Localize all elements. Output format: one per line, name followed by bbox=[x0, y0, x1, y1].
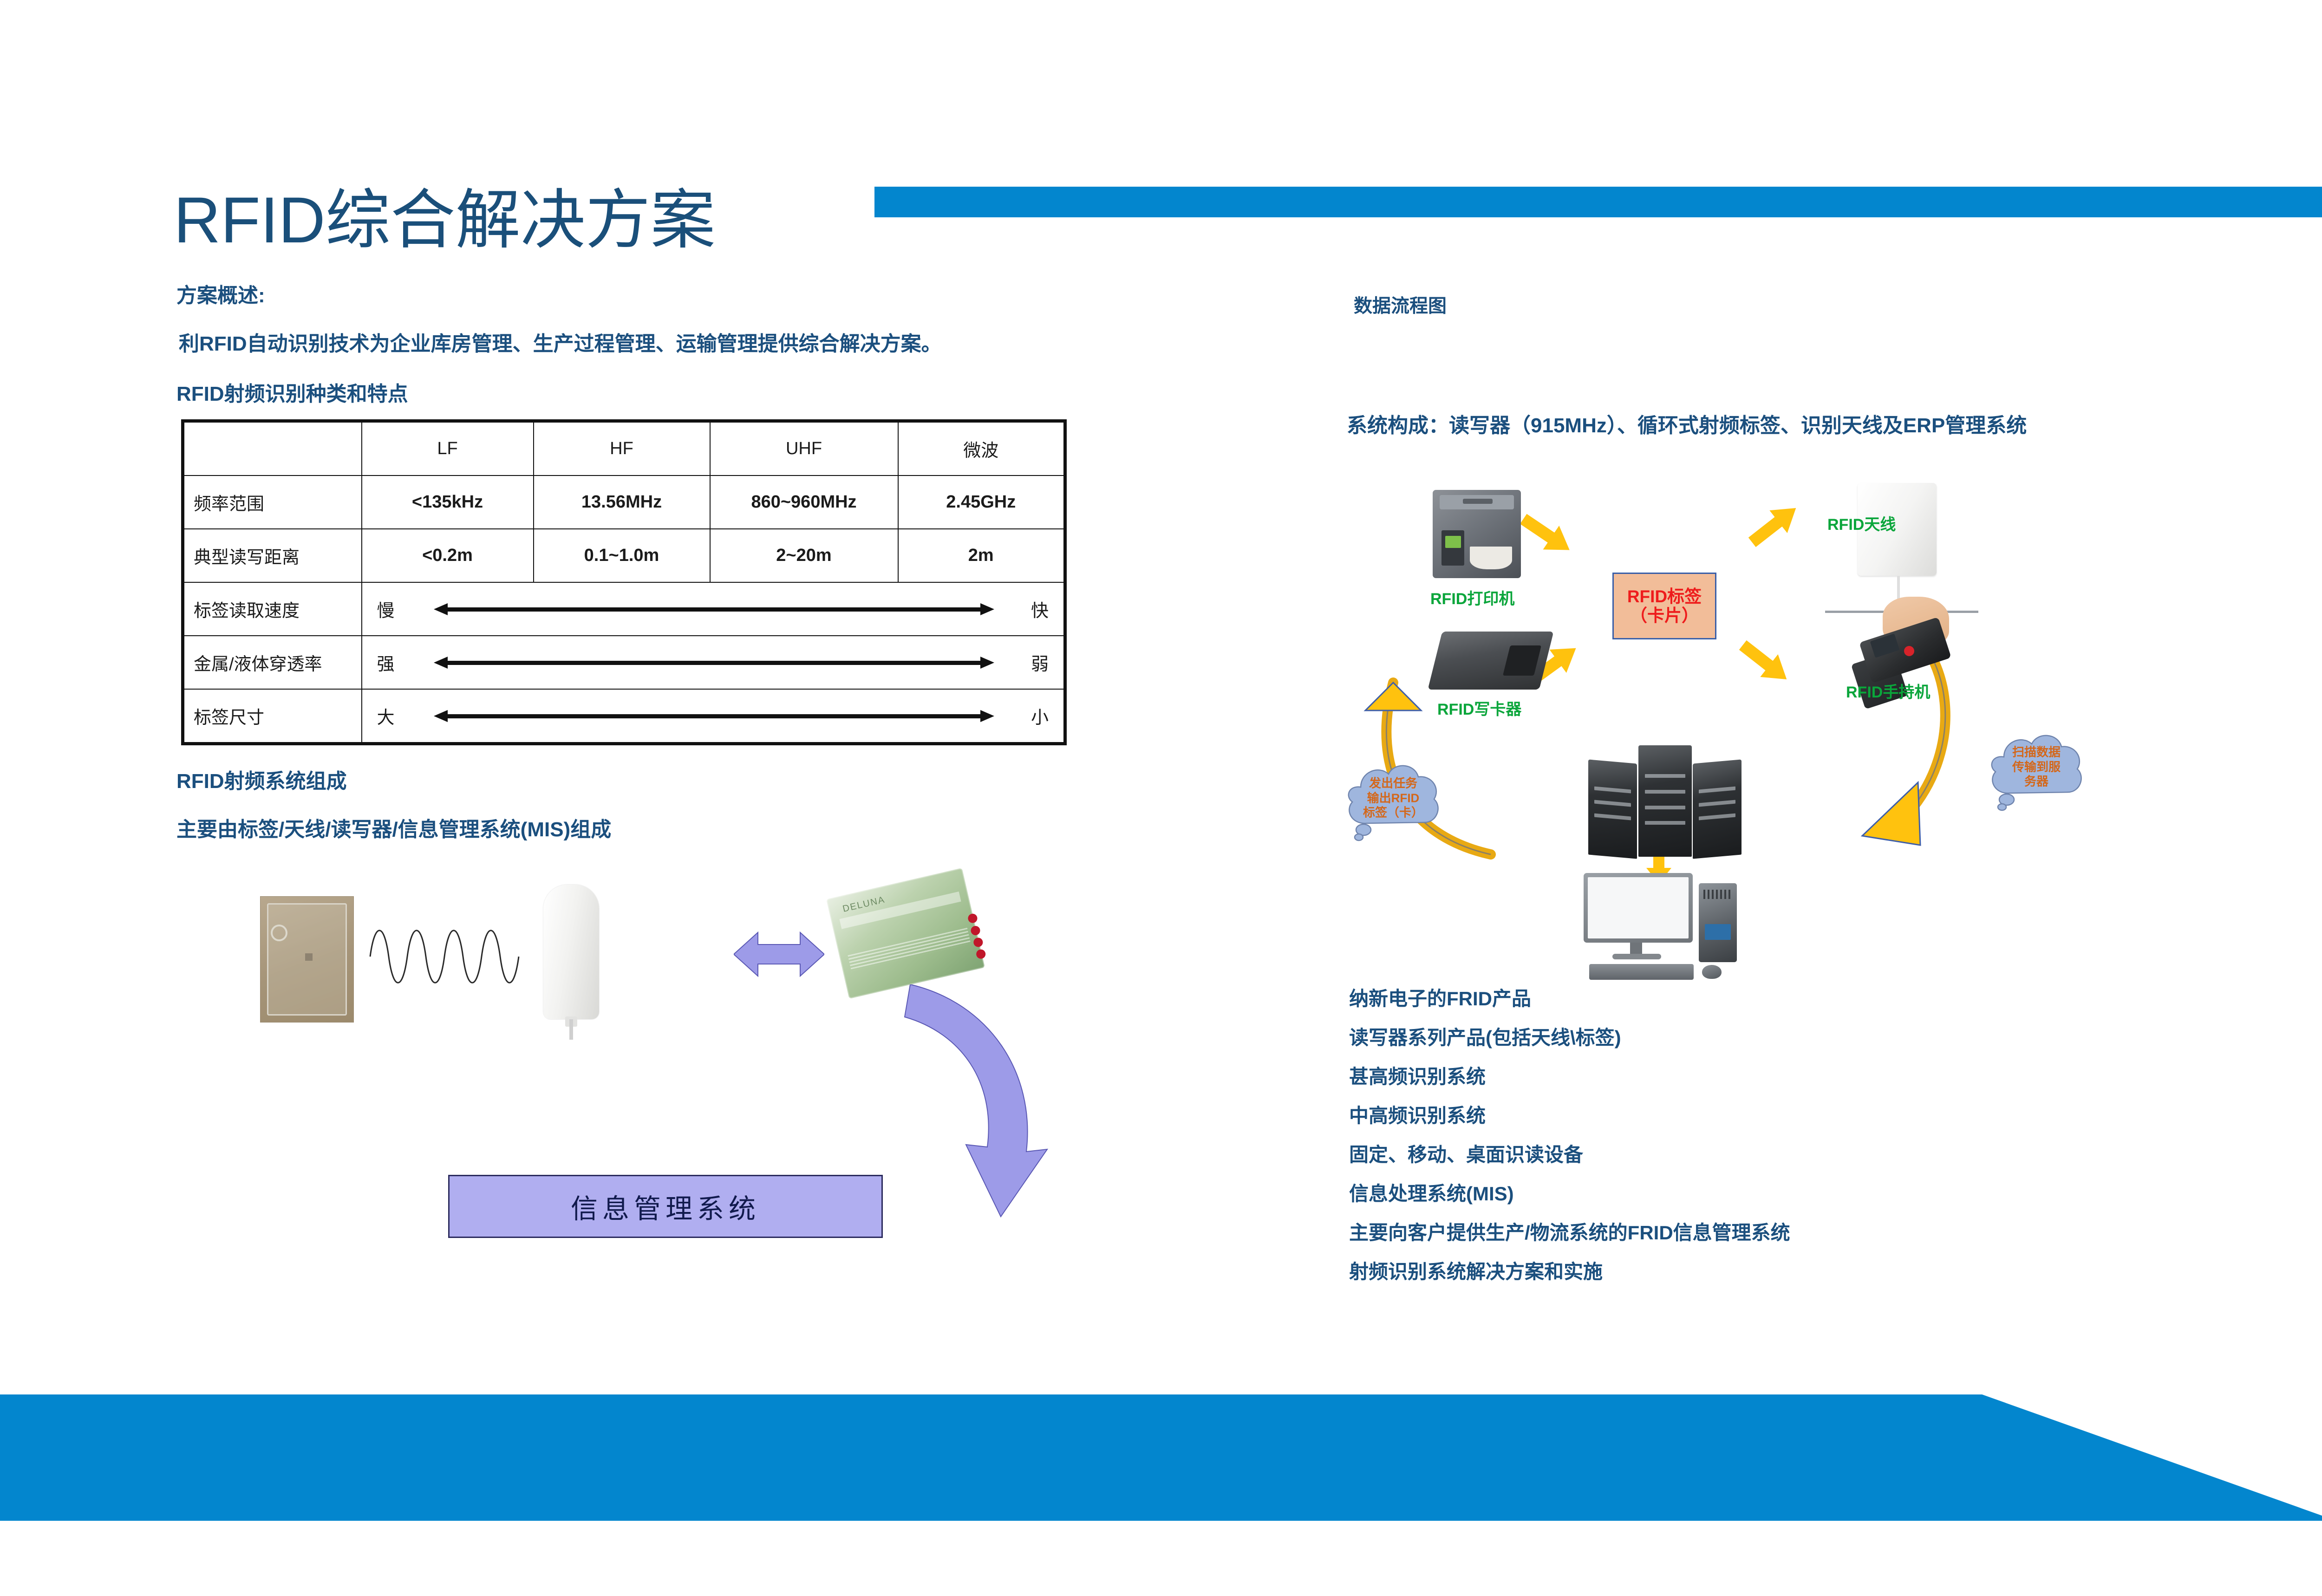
row-label: 金属/液体穿透率 bbox=[183, 636, 362, 689]
rfid-card-writer-image bbox=[1435, 632, 1546, 690]
arrow-right-label: 小 bbox=[1031, 703, 1049, 729]
device-label-antenna: RFID天线 bbox=[1827, 512, 1896, 534]
gradient-arrow-cell: 强 弱 bbox=[362, 636, 1065, 689]
rfid-printer-image bbox=[1433, 490, 1521, 578]
list-item: 纳新电子的FRID产品 bbox=[1349, 989, 1790, 1009]
bidirectional-arrow-icon bbox=[734, 929, 824, 980]
page-title-cn: 综合解决方案 bbox=[326, 185, 716, 257]
device-label-printer: RFID打印机 bbox=[1430, 586, 1514, 609]
system-composition-body: 主要由标签/天线/读写器/信息管理系统(MIS)组成 bbox=[176, 813, 611, 842]
cell-value: 860~960MHz bbox=[710, 476, 898, 529]
cell-value: 2~20m bbox=[710, 529, 898, 582]
cell-value: <135kHz bbox=[362, 476, 534, 529]
cell-value: 13.56MHz bbox=[534, 476, 710, 529]
kinds-heading: RFID射频识别种类和特点 bbox=[176, 377, 408, 407]
cell-value: 0.1~1.0m bbox=[534, 529, 710, 582]
system-constitution-line: 系统构成：读写器（915MHz）、循环式射频标签、识别天线及ERP管理系统 bbox=[1347, 409, 2027, 438]
list-item: 射频识别系统解决方案和实施 bbox=[1349, 1262, 1790, 1282]
rf-wave-icon bbox=[369, 922, 522, 991]
arrow-left-label: 大 bbox=[377, 703, 395, 729]
device-label-handheld: RFID手持机 bbox=[1846, 679, 1930, 702]
row-label: 标签尺寸 bbox=[183, 689, 362, 744]
list-item: 主要向客户提供生产/物流系统的FRID信息管理系统 bbox=[1349, 1223, 1790, 1243]
th-lf: LF bbox=[362, 421, 534, 476]
list-item: 读写器系列产品(包括天线\标签) bbox=[1349, 1028, 1790, 1048]
desktop-computer-image bbox=[1584, 873, 1746, 980]
overview-label: 方案概述: bbox=[176, 279, 265, 308]
cloud-issue-task: 发出任务 输出RFID 标签（卡） bbox=[1333, 755, 1454, 847]
tag-box-line2: （卡片） bbox=[1630, 606, 1699, 625]
row-label: 频率范围 bbox=[183, 476, 362, 529]
cloud-line: 传输到服 bbox=[1976, 760, 2097, 775]
rfid-tag-center-box: RFID标签 （卡片） bbox=[1612, 573, 1716, 639]
feedback-curved-arrow-icon bbox=[896, 984, 1050, 1244]
overview-body: 利RFID自动识别技术为企业库房管理、生产过程管理、运输管理提供综合解决方案。 bbox=[179, 327, 942, 357]
th-hf: HF bbox=[534, 421, 710, 476]
cell-value: 2m bbox=[898, 529, 1065, 582]
tag-box-line1: RFID标签 bbox=[1627, 587, 1702, 606]
server-cluster-image bbox=[1588, 741, 1741, 857]
th-micro: 微波 bbox=[898, 421, 1065, 476]
arrow-printer-to-tag-icon bbox=[1515, 507, 1578, 562]
bottom-accent-banner bbox=[0, 1394, 2322, 1521]
rfid-reader-photo: DELUNA bbox=[826, 868, 985, 999]
gradient-arrow-cell: 慢 快 bbox=[362, 582, 1065, 636]
rfid-frequency-table: LF HF UHF 微波 频率范围 <135kHz 13.56MHz 860~9… bbox=[181, 419, 1067, 745]
cell-value: <0.2m bbox=[362, 529, 534, 582]
row-label: 典型读写距离 bbox=[183, 529, 362, 582]
slide-canvas: RFID综合解决方案 方案概述: 利RFID自动识别技术为企业库房管理、生产过程… bbox=[0, 0, 2322, 1596]
double-arrow-icon bbox=[434, 657, 995, 669]
table-row: 典型读写距离 <0.2m 0.1~1.0m 2~20m 2m bbox=[183, 529, 1065, 582]
arrow-left-label: 慢 bbox=[377, 596, 395, 622]
list-item: 固定、移动、桌面识读设备 bbox=[1349, 1145, 1790, 1165]
gradient-arrow-cell: 大 小 bbox=[362, 689, 1065, 744]
table-row: 频率范围 <135kHz 13.56MHz 860~960MHz 2.45GHz bbox=[183, 476, 1065, 529]
cloud-line: 务器 bbox=[1976, 775, 2097, 789]
arrow-left-label: 强 bbox=[377, 650, 395, 675]
cloud-scan-upload: 扫描数据 传输到服 务器 bbox=[1976, 724, 2097, 817]
arrow-tag-to-antenna-icon bbox=[1743, 497, 1805, 554]
double-arrow-icon bbox=[434, 603, 995, 615]
list-item: 信息处理系统(MIS) bbox=[1349, 1184, 1790, 1204]
table-header-row: LF HF UHF 微波 bbox=[183, 421, 1065, 476]
device-label-writer: RFID写卡器 bbox=[1437, 697, 1521, 719]
system-composition-heading: RFID射频系统组成 bbox=[176, 764, 347, 794]
rfid-antenna-photo bbox=[543, 885, 599, 1019]
page-title: RFID综合解决方案 bbox=[174, 186, 716, 255]
cloud-line: 标签（卡） bbox=[1333, 806, 1454, 821]
arrow-right-label: 快 bbox=[1031, 596, 1049, 622]
cloud-line: 输出RFID bbox=[1333, 791, 1454, 806]
table-row: 金属/液体穿透率 强 弱 bbox=[183, 636, 1065, 689]
dataflow-title: 数据流程图 bbox=[1354, 291, 1447, 318]
cloud-line: 发出任务 bbox=[1333, 776, 1454, 791]
list-item: 中高频识别系统 bbox=[1349, 1106, 1790, 1126]
mis-box-label: 信息管理系统 bbox=[571, 1187, 760, 1226]
page-title-en: RFID bbox=[174, 183, 326, 256]
cell-value: 2.45GHz bbox=[898, 476, 1065, 529]
list-item: 甚高频识别系统 bbox=[1349, 1067, 1790, 1087]
rfid-tag-photo bbox=[260, 896, 354, 1023]
table-row: 标签读取速度 慢 快 bbox=[183, 582, 1065, 636]
products-list: 纳新电子的FRID产品 读写器系列产品(包括天线\标签) 甚高频识别系统 中高频… bbox=[1349, 989, 1790, 1301]
arrow-right-label: 弱 bbox=[1031, 650, 1049, 675]
double-arrow-icon bbox=[434, 710, 995, 722]
top-accent-bar bbox=[874, 187, 2322, 217]
cloud-line: 扫描数据 bbox=[1976, 745, 2097, 760]
th-uhf: UHF bbox=[710, 421, 898, 476]
th-blank bbox=[183, 421, 362, 476]
table-row: 标签尺寸 大 小 bbox=[183, 689, 1065, 744]
mis-box: 信息管理系统 bbox=[448, 1175, 883, 1238]
row-label: 标签读取速度 bbox=[183, 582, 362, 636]
